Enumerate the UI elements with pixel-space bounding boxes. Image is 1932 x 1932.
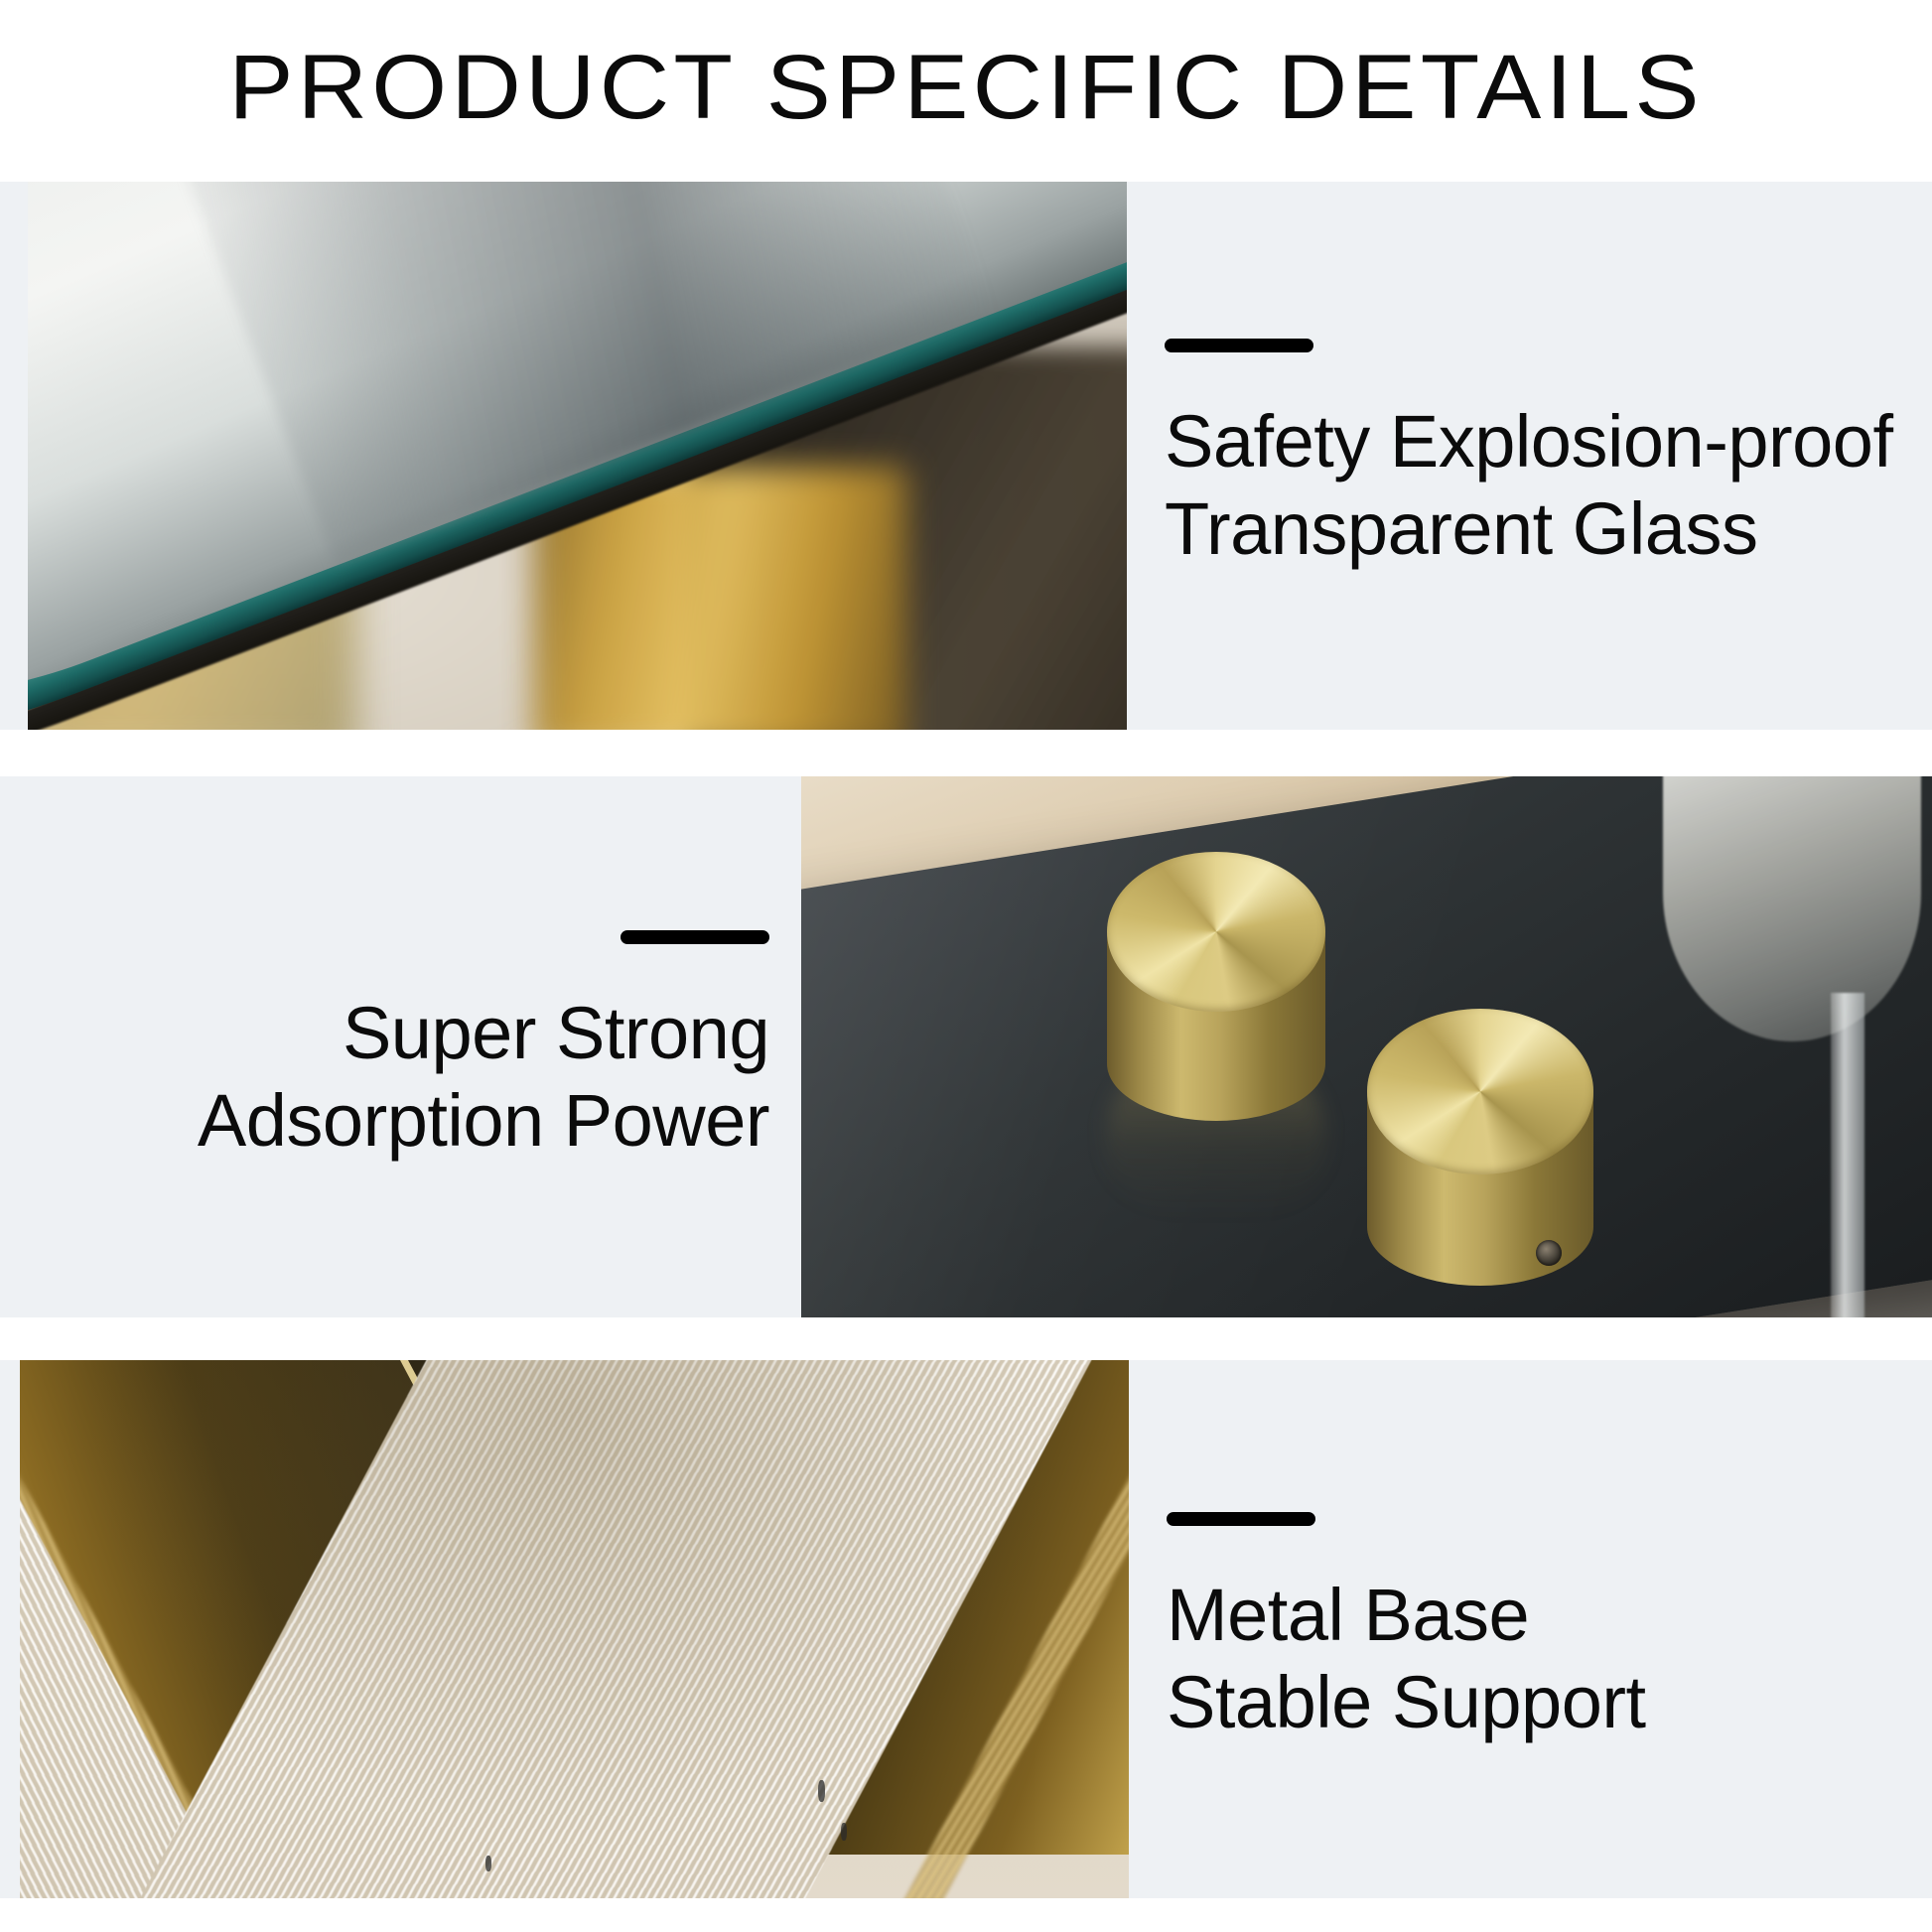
accent-rule-icon (1165, 339, 1313, 352)
feature-copy-safety-glass: Safety Explosion-proof Transparent Glass (1127, 182, 1932, 730)
product-details-infographic: PRODUCT SPECIFIC DETAILS Safety Explosio… (0, 0, 1932, 1932)
feature-row-safety-glass: Safety Explosion-proof Transparent Glass (0, 182, 1932, 730)
disc-brushed-top (1367, 1009, 1593, 1173)
page-title: PRODUCT SPECIFIC DETAILS (0, 34, 1932, 141)
accent-rule-icon (621, 930, 769, 944)
rug-shadow (20, 1360, 1129, 1898)
feature-headline-line2: Stable Support (1167, 1659, 1932, 1746)
feature-headline-line2: Adsorption Power (198, 1077, 769, 1165)
feature-headline-line1: Super Strong (343, 990, 769, 1077)
feature-row-metal-base: Metal Base Stable Support (0, 1360, 1932, 1898)
disc-brushed-top (1107, 852, 1325, 1012)
feature-image-safety-glass (28, 182, 1127, 730)
feature-headline-line1: Safety Explosion-proof (1165, 398, 1932, 485)
feature-image-adsorption-power (801, 776, 1932, 1317)
feature-copy-metal-base: Metal Base Stable Support (1129, 1360, 1932, 1898)
rug-dark-fleck (818, 1780, 825, 1802)
rug-dark-fleck (485, 1856, 491, 1871)
feature-copy-adsorption-power: Super Strong Adsorption Power (0, 776, 769, 1317)
feature-row-adsorption-power: Super Strong Adsorption Power (0, 776, 1932, 1317)
glass-vase-stem (1831, 993, 1864, 1317)
gold-suction-disc-lower (1367, 1009, 1593, 1275)
rug-dark-fleck (841, 1823, 847, 1841)
feature-image-metal-base (20, 1360, 1129, 1898)
feature-headline-line2: Transparent Glass (1165, 485, 1932, 573)
gold-suction-disc-upper (1107, 852, 1325, 1110)
disc-set-screw-hole (1536, 1240, 1562, 1266)
feature-headline-line1: Metal Base (1167, 1572, 1932, 1659)
accent-rule-icon (1167, 1512, 1315, 1526)
